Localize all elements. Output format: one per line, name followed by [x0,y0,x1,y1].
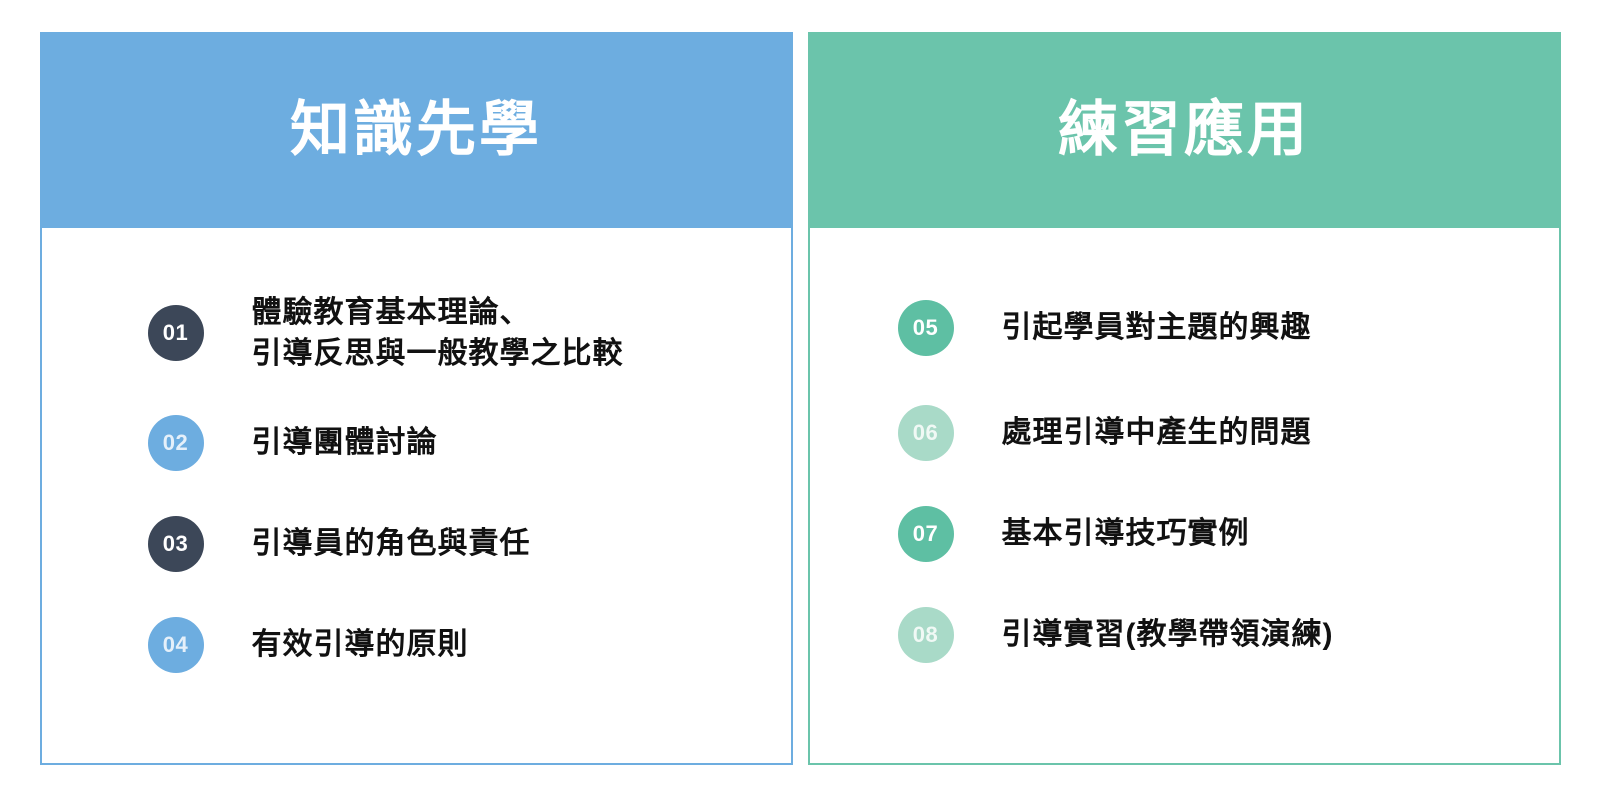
item-number-badge-03: 03 [148,516,204,572]
list-item[interactable]: 08 引導實習(教學帶領演練) [898,584,1559,685]
card-header-knowledge-first: 知識先學 [40,32,793,228]
item-list-right: 05 引起學員對主題的興趣 06 處理引導中產生的問題 07 基本引導技巧實例 … [810,274,1559,685]
item-number-badge-06: 06 [898,405,954,461]
item-label-08: 引導實習(教學帶領演練) [1002,614,1334,655]
card-header-practice-application: 練習應用 [808,32,1561,228]
item-list-left: 01 體驗教育基本理論、 引導反思與一般教學之比較 02 引導團體討論 03 引… [42,274,791,695]
list-item[interactable]: 06 處理引導中產生的問題 [898,382,1559,483]
item-number-badge-07: 07 [898,506,954,562]
card-knowledge-first: 知識先學 01 體驗教育基本理論、 引導反思與一般教學之比較 02 引導團體討論… [40,32,793,765]
card-body-knowledge-first: 01 體驗教育基本理論、 引導反思與一般教學之比較 02 引導團體討論 03 引… [42,226,791,763]
item-number-badge-04: 04 [148,617,204,673]
item-label-04: 有效引導的原則 [252,624,469,665]
item-label-05: 引起學員對主題的興趣 [1002,307,1312,348]
item-number-badge-05: 05 [898,300,954,356]
two-column-diagram: 知識先學 01 體驗教育基本理論、 引導反思與一般教學之比較 02 引導團體討論… [0,0,1600,800]
list-item[interactable]: 01 體驗教育基本理論、 引導反思與一般教學之比較 [148,274,791,392]
item-label-06: 處理引導中產生的問題 [1002,412,1312,453]
card-body-practice-application: 05 引起學員對主題的興趣 06 處理引導中產生的問題 07 基本引導技巧實例 … [810,226,1559,763]
card-title-knowledge-first: 知識先學 [290,100,542,160]
card-practice-application: 練習應用 05 引起學員對主題的興趣 06 處理引導中產生的問題 07 基本引導… [808,32,1561,765]
item-label-01: 體驗教育基本理論、 引導反思與一般教學之比較 [252,292,624,375]
list-item[interactable]: 02 引導團體討論 [148,392,791,493]
list-item[interactable]: 07 基本引導技巧實例 [898,483,1559,584]
item-label-02: 引導團體討論 [252,422,438,463]
item-number-badge-02: 02 [148,415,204,471]
card-title-practice-application: 練習應用 [1058,100,1310,160]
item-number-badge-08: 08 [898,607,954,663]
list-item[interactable]: 03 引導員的角色與責任 [148,493,791,594]
item-label-07: 基本引導技巧實例 [1002,513,1250,554]
list-item[interactable]: 05 引起學員對主題的興趣 [898,274,1559,382]
item-label-03: 引導員的角色與責任 [252,523,531,564]
list-item[interactable]: 04 有效引導的原則 [148,594,791,695]
item-number-badge-01: 01 [148,305,204,361]
